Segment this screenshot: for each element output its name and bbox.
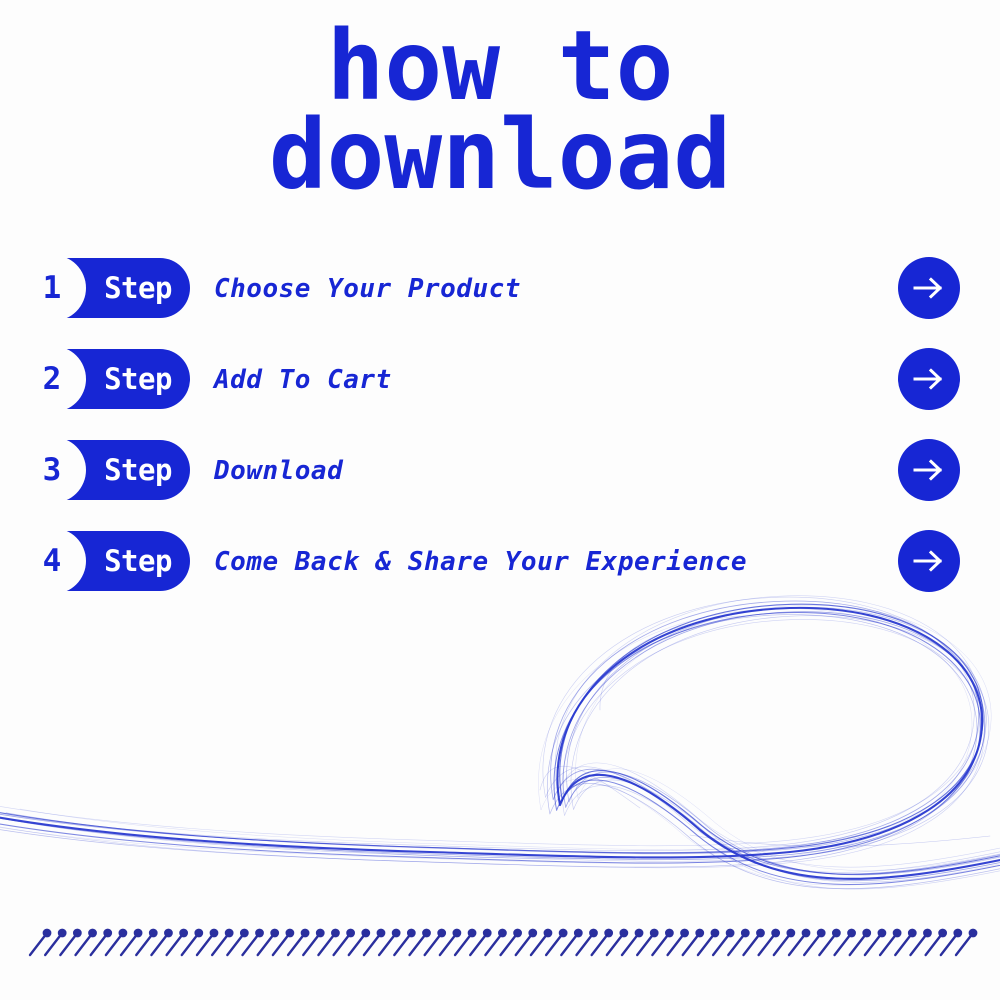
step-title: Add To Cart — [214, 349, 392, 409]
arrow-right-icon — [912, 276, 946, 300]
step-title: Come Back & Share Your Experience — [214, 531, 747, 591]
arrow-right-icon — [912, 549, 946, 573]
step-arrow-button[interactable] — [898, 439, 960, 501]
hand-drawn-loop-swirl — [0, 590, 1000, 900]
step-row[interactable]: 3 Step Download — [0, 440, 1000, 500]
step-number: 3 — [38, 440, 66, 500]
step-label: Step — [86, 349, 190, 409]
step-label: Step — [86, 440, 190, 500]
step-row[interactable]: 2 Step Add To Cart — [0, 349, 1000, 409]
step-arrow-button[interactable] — [898, 530, 960, 592]
page-title-line-2: download — [0, 111, 1000, 200]
arrow-right-icon — [912, 367, 946, 391]
step-number: 2 — [38, 349, 66, 409]
step-number: 1 — [38, 258, 66, 318]
page-title: how to download — [0, 22, 1000, 201]
step-row[interactable]: 4 Step Come Back & Share Your Experience — [0, 531, 1000, 591]
poster-canvas: how to download 1 Step Choose Your Produ… — [0, 0, 1000, 1000]
step-title: Download — [214, 440, 343, 500]
step-label: Step — [86, 531, 190, 591]
diagonal-pin-border — [0, 922, 1000, 970]
step-number: 4 — [38, 531, 66, 591]
step-row[interactable]: 1 Step Choose Your Product — [0, 258, 1000, 318]
page-title-line-1: how to — [0, 22, 1000, 111]
steps-list: 1 Step Choose Your Product 2 Step Add To… — [0, 258, 1000, 622]
step-title: Choose Your Product — [214, 258, 521, 318]
step-arrow-button[interactable] — [898, 348, 960, 410]
step-arrow-button[interactable] — [898, 257, 960, 319]
arrow-right-icon — [912, 458, 946, 482]
step-label: Step — [86, 258, 190, 318]
